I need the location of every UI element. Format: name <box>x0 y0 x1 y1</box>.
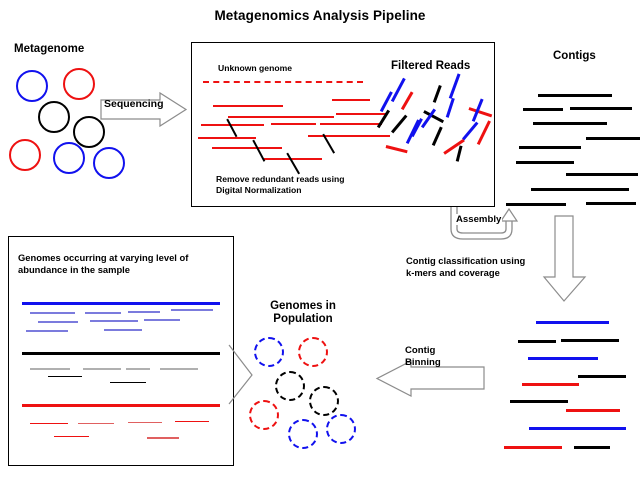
abundance-reference-1 <box>22 352 220 355</box>
binned-contig-bar-8 <box>529 427 626 430</box>
abundance-read-0-0 <box>30 312 75 314</box>
contig-binning-label: Contig Binning <box>405 345 441 368</box>
binned-contig-bar-2 <box>561 339 619 342</box>
abundance-read-0-4 <box>38 321 78 323</box>
binned-contig-bar-5 <box>522 383 579 386</box>
binned-contig-bar-10 <box>574 446 610 449</box>
binned-contig-bar-7 <box>566 409 620 412</box>
abundance-read-2-0 <box>30 423 68 424</box>
binned-contig-bar-3 <box>528 357 598 360</box>
abundance-read-0-1 <box>85 312 121 314</box>
abundance-read-2-2 <box>128 422 162 423</box>
abundance-reference-2 <box>22 404 220 407</box>
diagram-canvas: Metagenomics Analysis Pipeline Metagenom… <box>0 0 640 480</box>
abundance-read-0-2 <box>128 311 160 313</box>
abundance-to-population-arrow <box>228 344 254 406</box>
abundance-read-1-4 <box>48 376 82 377</box>
binned-contig-bar-9 <box>504 446 562 449</box>
contig-binning-line1: Contig <box>405 345 441 357</box>
abundance-read-1-5 <box>110 382 146 383</box>
abundance-read-0-3 <box>171 309 213 311</box>
abundance-coverage-group <box>0 0 400 480</box>
abundance-read-0-7 <box>26 330 68 332</box>
binned-contig-bar-0 <box>536 321 609 324</box>
abundance-reference-0 <box>22 302 220 305</box>
abundance-read-1-3 <box>160 368 198 370</box>
abundance-read-2-3 <box>175 421 209 422</box>
abundance-read-2-4 <box>54 436 89 437</box>
abundance-read-1-0 <box>30 368 70 370</box>
abundance-read-0-6 <box>144 319 180 321</box>
abundance-read-1-2 <box>126 368 150 370</box>
abundance-read-2-1 <box>78 423 114 424</box>
binned-contig-bar-6 <box>510 400 568 403</box>
abundance-read-0-8 <box>104 329 142 331</box>
abundance-read-2-5 <box>147 437 179 439</box>
binned-contig-bar-1 <box>518 340 556 343</box>
abundance-read-0-5 <box>90 320 138 322</box>
contig-binning-line2: Binning <box>405 357 441 369</box>
binned-contig-bar-4 <box>578 375 626 378</box>
abundance-read-1-1 <box>83 368 121 370</box>
